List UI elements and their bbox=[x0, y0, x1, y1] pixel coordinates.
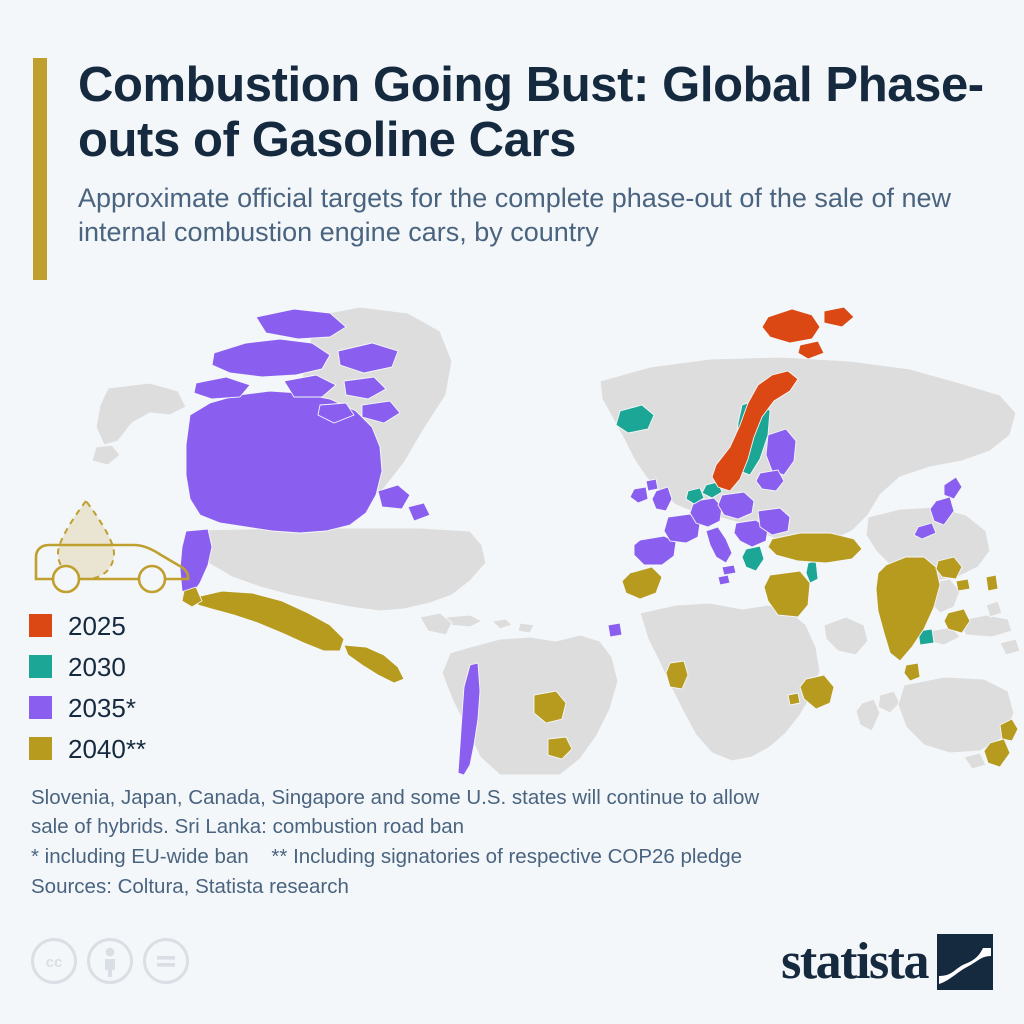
page-title: Combustion Going Bust: Global Phase-outs… bbox=[78, 58, 993, 168]
legend-swatch-2025 bbox=[29, 614, 52, 637]
cc-glyph: cc bbox=[39, 946, 69, 976]
page-subtitle: Approximate official targets for the com… bbox=[78, 182, 993, 250]
creative-commons-badges: cc bbox=[31, 938, 189, 984]
header: Combustion Going Bust: Global Phase-outs… bbox=[33, 58, 993, 280]
legend-item-2025[interactable]: 2025 bbox=[29, 605, 146, 646]
gasoline-car-icon bbox=[30, 495, 195, 595]
legend-swatch-2040 bbox=[29, 737, 52, 760]
legend-item-2030[interactable]: 2030 bbox=[29, 646, 146, 687]
accent-bar bbox=[33, 58, 47, 280]
car-icon-svg bbox=[30, 495, 195, 595]
cc-by-person-icon[interactable] bbox=[87, 938, 133, 984]
svg-text:cc: cc bbox=[46, 954, 63, 971]
equals-glyph bbox=[152, 947, 180, 975]
footer: cc statista bbox=[31, 938, 993, 1000]
statista-logo[interactable]: statista bbox=[781, 934, 993, 990]
legend-label-2035: 2035* bbox=[68, 695, 136, 721]
map-legend: 2025 2030 2035* 2040** bbox=[29, 605, 146, 769]
infographic-root: Combustion Going Bust: Global Phase-outs… bbox=[0, 0, 1024, 1024]
footnote-hybrids: Slovenia, Japan, Canada, Singapore and s… bbox=[31, 783, 991, 841]
legend-label-2030: 2030 bbox=[68, 654, 126, 680]
legend-label-2040: 2040** bbox=[68, 736, 146, 762]
legend-item-2040[interactable]: 2040** bbox=[29, 728, 146, 769]
footnote-asterisks: * including EU-wide ban ** Including sig… bbox=[31, 842, 991, 871]
legend-swatch-2035 bbox=[29, 696, 52, 719]
legend-label-2025: 2025 bbox=[68, 613, 126, 639]
statista-s-mark-icon bbox=[937, 934, 993, 990]
cc-nd-equals-icon[interactable] bbox=[143, 938, 189, 984]
legend-swatch-2030 bbox=[29, 655, 52, 678]
cc-icon[interactable]: cc bbox=[31, 938, 77, 984]
header-text-block: Combustion Going Bust: Global Phase-outs… bbox=[78, 58, 993, 280]
footnotes: Slovenia, Japan, Canada, Singapore and s… bbox=[31, 783, 991, 901]
statista-wordmark: statista bbox=[781, 936, 928, 988]
legend-item-2035[interactable]: 2035* bbox=[29, 687, 146, 728]
person-glyph bbox=[96, 945, 124, 977]
footnote-sources: Sources: Coltura, Statista research bbox=[31, 872, 991, 901]
